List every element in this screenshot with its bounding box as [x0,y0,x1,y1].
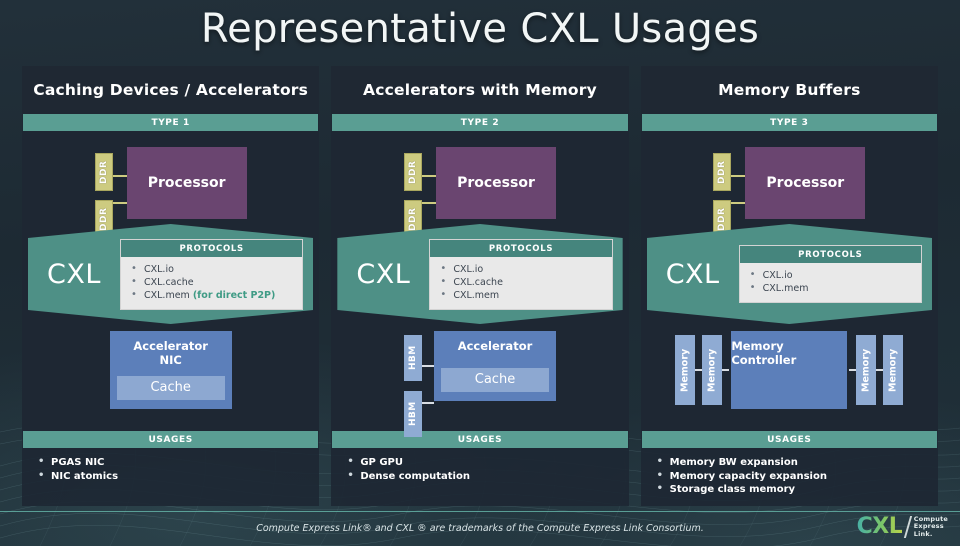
ddr-tab-label: DDR [717,207,727,230]
protocols-header-1: PROTOCOLS [121,240,302,257]
usage-item: GP GPU [347,456,628,470]
ddr-tab: DDR [404,153,422,191]
protocols-header-2: PROTOCOLS [430,240,611,257]
connector-line [422,402,434,404]
memory-tab-label: Memory [680,348,691,391]
protocol-text: CXL.io [144,264,174,275]
memory-tab-label: Memory [707,348,718,391]
protocols-card-2: PROTOCOLS CXL.io CXL.cache CXL.mem [429,239,612,310]
memory-tab-label: Memory [861,348,872,391]
usage-item: Storage class memory [657,483,938,497]
logo-slash-icon [904,516,912,538]
usage-item: NIC atomics [38,470,319,484]
protocols-list-2: CXL.io CXL.cache CXL.mem [430,257,611,309]
panels-container: Caching Devices / Accelerators TYPE 1 DD… [22,66,938,506]
ddr-tab: DDR [713,153,731,191]
ddr-tabs-2: DDR DDR [404,147,422,238]
type-band-1: TYPE 1 [23,114,318,131]
logo-tagline: Compute Express Link. [914,516,948,539]
usage-item: PGAS NIC [38,456,319,470]
processor-block-3: Processor [745,147,865,219]
footer-divider [0,511,960,513]
cxl-link-block-1: CXL PROTOCOLS CXL.io CXL.cache CXL.mem (… [28,224,313,324]
ddr-tab-label: DDR [99,207,109,230]
usages-header-1: USAGES [23,431,318,448]
hbm-tab: HBM [404,335,422,381]
protocol-item: CXL.io [131,263,296,276]
type-band-2: TYPE 2 [332,114,627,131]
protocols-card-3: PROTOCOLS CXL.io CXL.mem [739,245,922,303]
page-title: Representative CXL Usages [0,6,960,52]
memory-controller-block: Memory Controller [731,331,847,409]
hbm-tab-label: HBM [408,346,418,371]
connector-line [113,202,127,204]
protocols-header-3: PROTOCOLS [740,246,921,263]
cxl-link-block-3: CXL PROTOCOLS CXL.io CXL.mem [647,224,932,324]
panel-heading-3: Memory Buffers [641,66,938,114]
ddr-tab-label: DDR [408,160,418,183]
protocol-text: CXL.cache [144,277,194,288]
hbm-tabs-2: HBM HBM [404,331,422,437]
connector-line [422,175,436,177]
connector-line [422,365,434,367]
cxl-label-3: CXL [647,259,739,290]
connector-line [731,175,745,177]
connector-line [422,202,436,204]
protocols-list-1: CXL.io CXL.cache CXL.mem (for direct P2P… [121,257,302,309]
memory-tab: Memory [883,335,903,405]
memory-tab: Memory [675,335,695,405]
accelerator-block: Accelerator Cache [434,331,556,401]
hbm-tab-label: HBM [408,402,418,427]
type-band-3: TYPE 3 [642,114,937,131]
cxl-consortium-logo: CXL Compute Express Link. [857,516,948,539]
protocol-item: CXL.mem [440,289,605,302]
processor-block-2: Processor [436,147,556,219]
device-title-1: Accelerator NIC [117,339,225,367]
hbm-tab: HBM [404,391,422,437]
ddr-tab-label: DDR [717,160,727,183]
panel-type-2: Accelerators with Memory TYPE 2 DDR DDR [331,66,628,506]
memory-row-3: Memory Memory Memory Controller Memory M… [641,331,938,409]
usage-item: Memory capacity expansion [657,470,938,484]
trademark-note: Compute Express Link® and CXL ® are trad… [0,523,960,534]
ddr-connector-lines-3 [731,147,745,238]
connector-line [113,175,127,177]
usages-list-1: PGAS NIC NIC atomics [38,456,319,483]
cache-block-1: Cache [117,376,225,400]
device-title-line1: Accelerator [133,339,208,353]
logo-wordmark: CXL [857,516,903,538]
panel-body-3: DDR DDR Processor CXL PROT [641,131,938,431]
protocols-list-3: CXL.io CXL.mem [740,263,921,302]
usage-item: Dense computation [347,470,628,484]
ddr-connector-lines-2 [422,147,436,238]
protocol-item: CXL.mem [750,282,915,295]
ddr-tab-label: DDR [408,207,418,230]
panel-heading-2: Accelerators with Memory [331,66,628,114]
memory-tab: Memory [856,335,876,405]
cache-block-2: Cache [441,368,549,392]
processor-block-1: Processor [127,147,247,219]
usage-item: Memory BW expansion [657,456,938,470]
slide-canvas: Representative CXL Usages Caching Device… [0,0,960,546]
cxl-label-1: CXL [28,259,120,290]
usages-list-2: GP GPU Dense computation [347,456,628,483]
ddr-tabs-1: DDR DDR [95,147,113,238]
memory-tab: Memory [702,335,722,405]
usages-list-3: Memory BW expansion Memory capacity expa… [657,456,938,497]
panel-type-3: Memory Buffers TYPE 3 DDR DDR [641,66,938,506]
cxl-link-block-2: CXL PROTOCOLS CXL.io CXL.cache CXL.mem [337,224,622,324]
usages-body-2: GP GPU Dense computation [331,448,628,506]
usages-body-1: PGAS NIC NIC atomics [22,448,319,506]
protocol-item: CXL.cache [440,276,605,289]
protocols-card-1: PROTOCOLS CXL.io CXL.cache CXL.mem (for … [120,239,303,310]
usages-header-3: USAGES [642,431,937,448]
protocol-item: CXL.io [440,263,605,276]
protocol-item: CXL.mem (for direct P2P) [131,289,296,302]
connector-line [722,369,729,371]
panel-type-1: Caching Devices / Accelerators TYPE 1 DD… [22,66,319,506]
cxl-label-2: CXL [337,259,429,290]
device-title-2: Accelerator [441,339,549,353]
ddr-connector-lines-1 [113,147,127,238]
usages-body-3: Memory BW expansion Memory capacity expa… [641,448,938,506]
device-title-line2: NIC [159,353,181,367]
panel-body-1: DDR DDR Processor CXL PROT [22,131,319,431]
accelerator-nic-block: Accelerator NIC Cache [110,331,232,409]
protocol-item: CXL.cache [131,276,296,289]
ddr-tab: DDR [95,153,113,191]
memory-tab-label: Memory [888,348,899,391]
logo-tagline-line3: Link. [914,531,948,539]
panel-body-2: DDR DDR Processor CXL PROT [331,131,628,431]
protocol-accent: (for direct P2P) [193,290,276,301]
protocol-item: CXL.io [750,269,915,282]
device-row-1: Accelerator NIC Cache [22,331,319,409]
ddr-tab-label: DDR [99,160,109,183]
protocol-text: CXL.mem [144,290,193,301]
ddr-tabs-3: DDR DDR [713,147,731,238]
hbm-connector-lines-2 [422,331,434,437]
connector-line [731,202,745,204]
panel-heading-1: Caching Devices / Accelerators [22,66,319,114]
device-row-2: HBM HBM Accelerator Cache [331,331,628,437]
